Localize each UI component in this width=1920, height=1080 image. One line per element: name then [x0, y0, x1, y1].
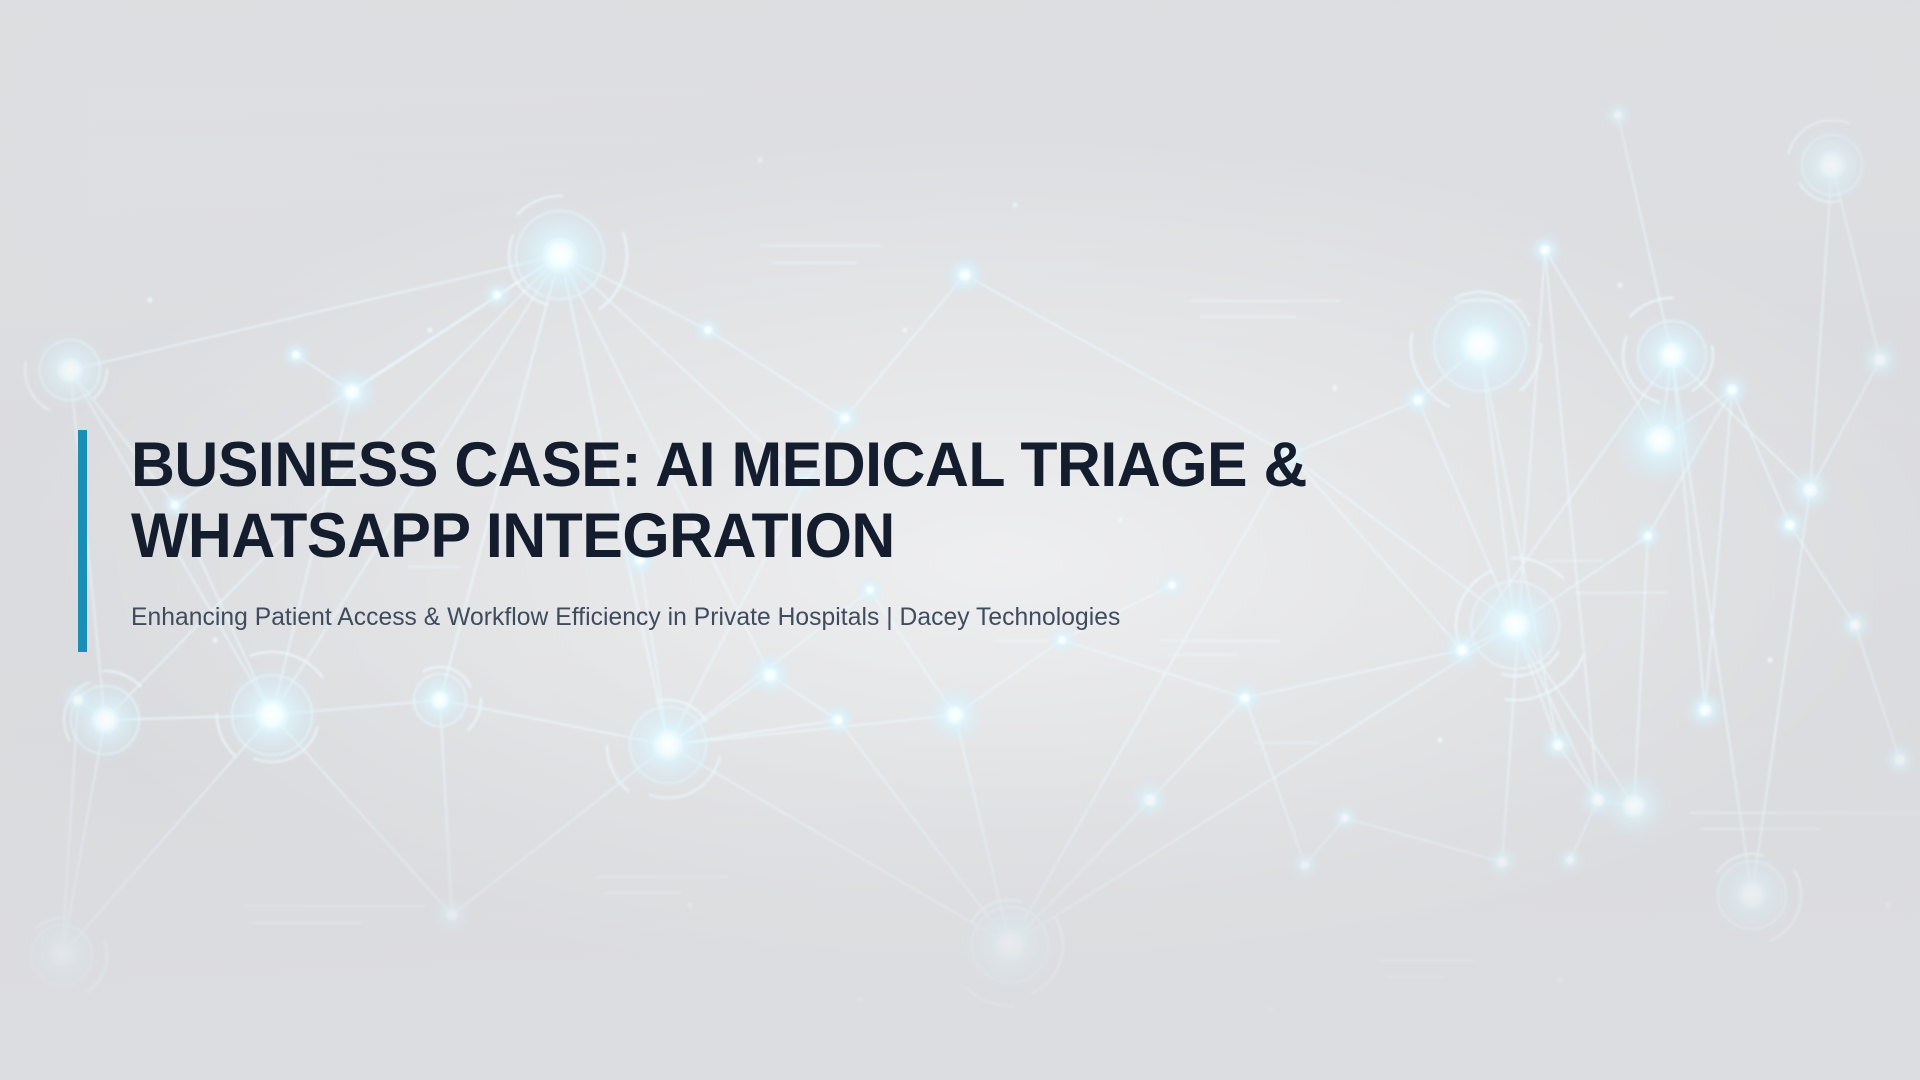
accent-bar [78, 430, 87, 652]
presentation-slide: BUSINESS CASE: AI MEDICAL TRIAGE & WHATS… [0, 0, 1920, 1080]
page-title: BUSINESS CASE: AI MEDICAL TRIAGE & WHATS… [131, 430, 1307, 571]
title-block: BUSINESS CASE: AI MEDICAL TRIAGE & WHATS… [78, 430, 1350, 652]
title-text-column: BUSINESS CASE: AI MEDICAL TRIAGE & WHATS… [131, 430, 1350, 652]
slide-subtitle: Enhancing Patient Access & Workflow Effi… [131, 571, 1331, 635]
